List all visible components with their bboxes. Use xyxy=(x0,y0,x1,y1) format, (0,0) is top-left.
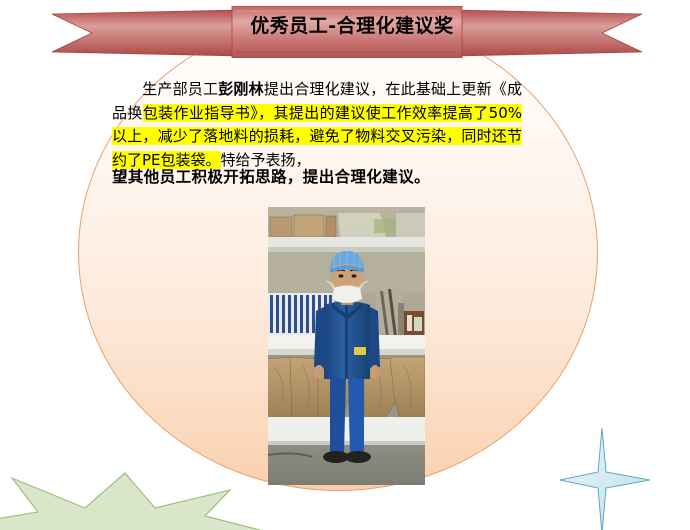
page-title: 优秀员工-合理化建议奖 xyxy=(232,14,472,38)
closing-encouragement-line: 望其他员工积极开拓思路，提出合理化建议。 xyxy=(112,166,522,189)
award-description-paragraph: 生产部员工彭刚林提出合理化建议，在此基础上更新《成品换包装作业指导书》，其提出的… xyxy=(112,78,522,172)
green-explosion-shape xyxy=(0,468,260,530)
highlighted-text-segment: 包装作业指导书》，其提出的建议使工作效率提高了50%以上，减少了落地料的损耗，避… xyxy=(112,104,522,169)
blue-sparkle-star xyxy=(560,428,650,530)
employee-name: 彭刚林 xyxy=(218,80,264,98)
employee-photo xyxy=(268,207,425,485)
slide-canvas: 优秀员工-合理化建议奖 生产部员工彭刚林提出合理化建议，在此基础上更新《成品换包… xyxy=(0,0,690,530)
text-segment-intro: 生产部员工 xyxy=(142,80,218,98)
